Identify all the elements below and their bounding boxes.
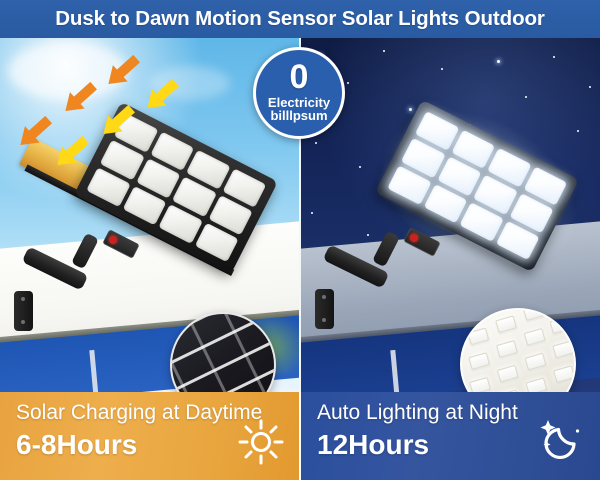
- bottom-banners: Solar Charging at Daytime 6-8Hours Auto …: [0, 392, 600, 480]
- sunlight-arrow-icon: [96, 100, 139, 142]
- sunlight-arrow-icon: [101, 50, 144, 92]
- sensor-indicator-dot: [409, 233, 420, 244]
- badge-line-2: billlpsum: [270, 109, 327, 123]
- sunlight-arrow-icon: [13, 111, 56, 153]
- led-chip-array: [460, 308, 576, 392]
- product-poster: Dusk to Dawn Motion Sensor Solar Lights …: [0, 0, 600, 480]
- moon-icon: [534, 414, 586, 466]
- banner-daytime: Solar Charging at Daytime 6-8Hours: [0, 392, 299, 480]
- led-chip-closeup: [460, 308, 576, 392]
- badge-number: 0: [290, 61, 309, 93]
- sunlight-arrow-icon: [140, 74, 183, 116]
- poster-header: Dusk to Dawn Motion Sensor Solar Lights …: [0, 0, 600, 38]
- sunlight-arrow-icon: [50, 131, 93, 173]
- bracket-bolt: [322, 295, 326, 299]
- sun-icon: [237, 418, 285, 466]
- banner-night: Auto Lighting at Night 12Hours: [301, 392, 600, 480]
- page-title: Dusk to Dawn Motion Sensor Solar Lights …: [55, 7, 545, 31]
- badge-line-1: Electricity: [268, 96, 330, 110]
- bracket-bolt: [322, 318, 326, 322]
- wall-bracket: [315, 289, 334, 329]
- sunlight-arrow-icon: [58, 77, 101, 119]
- night-scene: [301, 38, 600, 392]
- zero-electricity-badge: 0 Electricity billlpsum: [253, 47, 345, 139]
